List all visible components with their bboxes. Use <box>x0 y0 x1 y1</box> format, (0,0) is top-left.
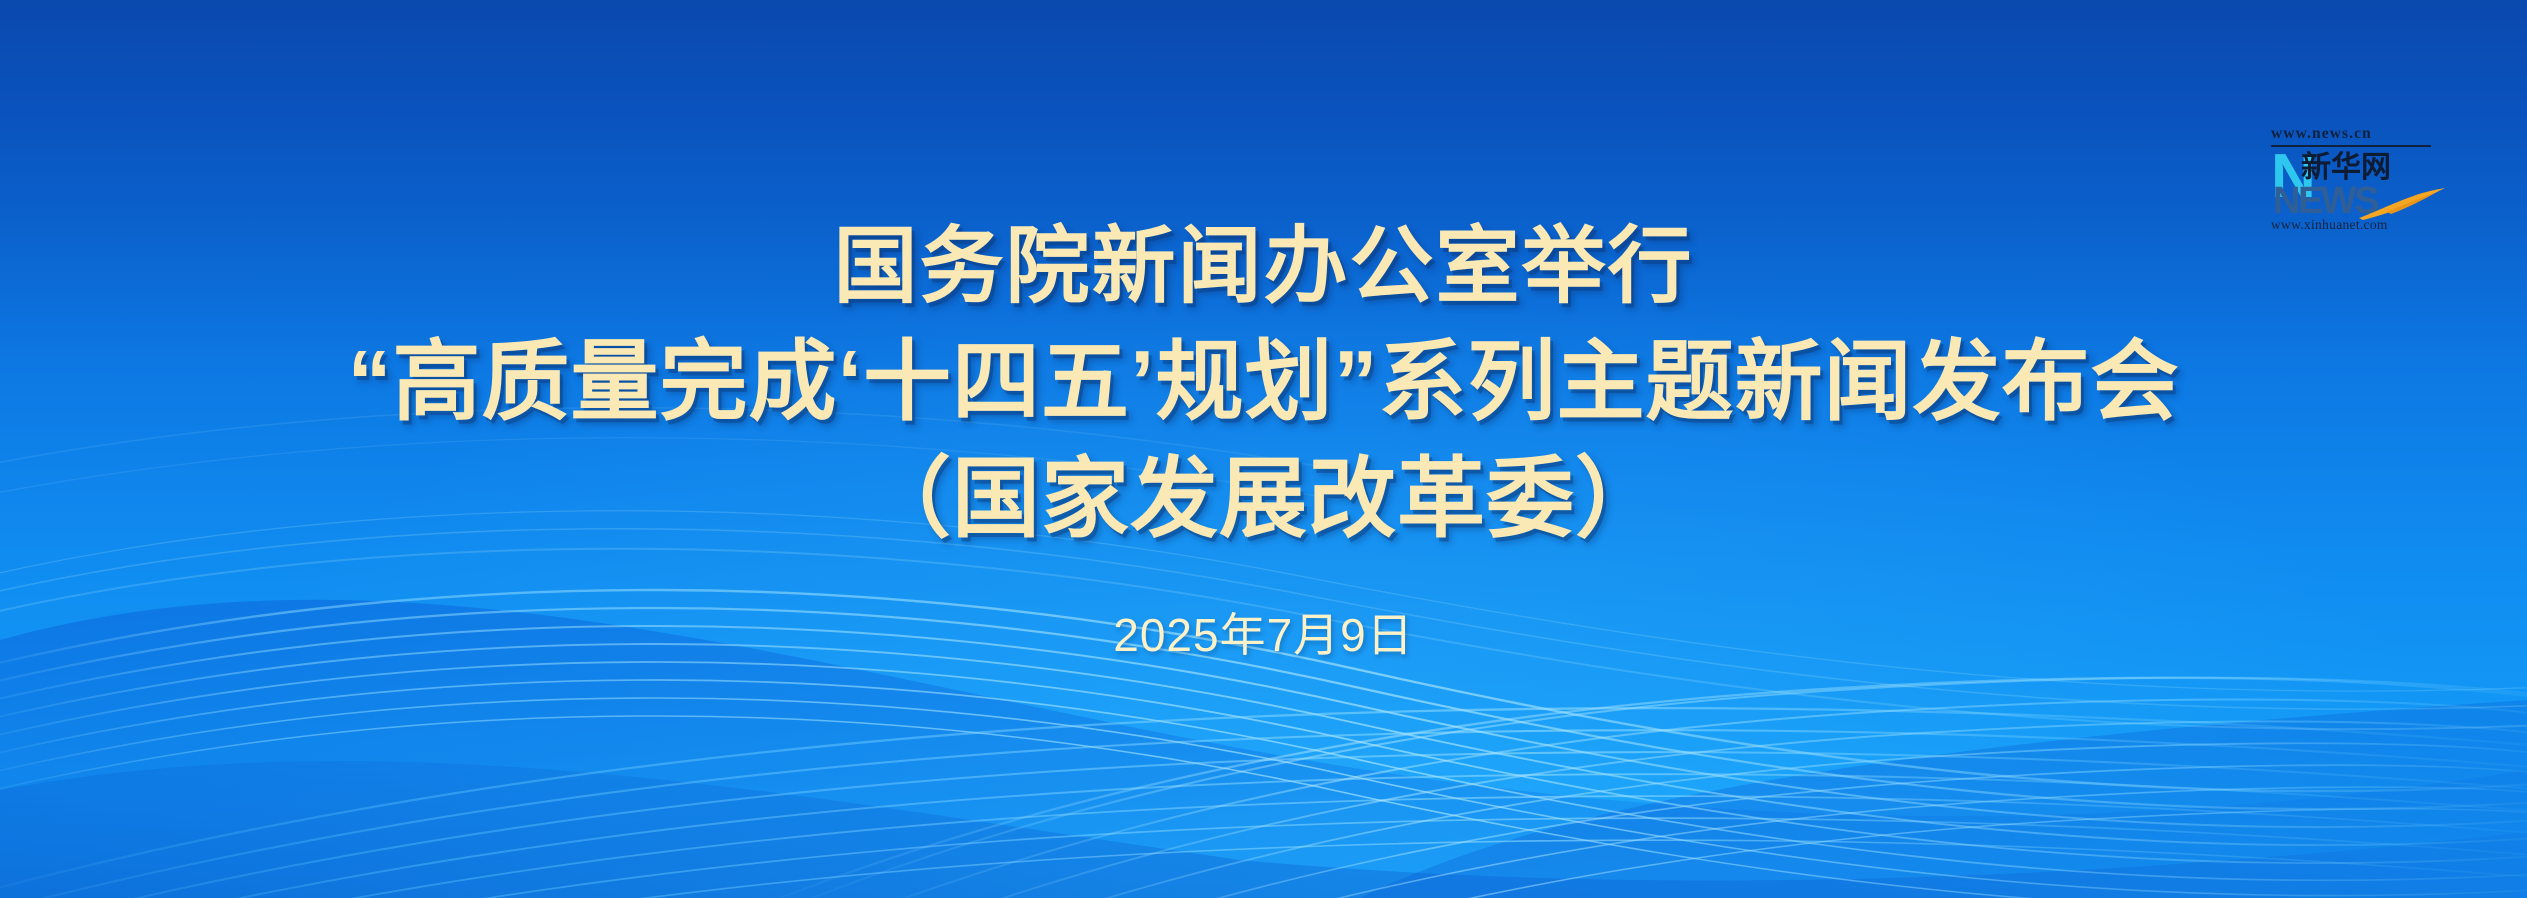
title-line-3: （国家发展改革委） <box>0 455 2527 543</box>
press-conference-banner: www.news.cn N 新华网 NEWS www.xinhuanet.com… <box>0 0 2527 898</box>
title-line-2: “高质量完成‘十四五’规划”系列主题新闻发布会 <box>0 338 2527 426</box>
logo-mark: N 新华网 NEWS <box>2271 149 2447 217</box>
event-date: 2025年7月9日 <box>0 612 2527 658</box>
wave-band-crossing <box>780 678 2527 898</box>
logo-url-news-cn: www.news.cn <box>2271 126 2372 142</box>
xinhuanet-logo[interactable]: www.news.cn N 新华网 NEWS www.xinhuanet.com <box>2271 126 2447 236</box>
wave-band-lower <box>0 708 2527 898</box>
logo-brand-chinese: 新华网 <box>2301 153 2391 183</box>
logo-orange-swoosh-icon <box>2357 187 2447 221</box>
title-line-1: 国务院新闻办公室举行 <box>0 224 2527 308</box>
